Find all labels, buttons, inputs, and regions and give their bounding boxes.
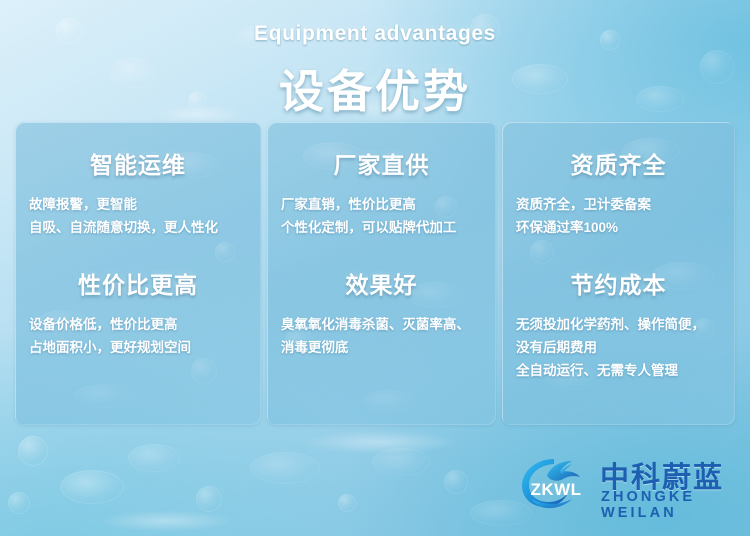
advantage-heading: 性价比更高 bbox=[29, 266, 247, 300]
advantage-line: 无须投加化学药剂、操作简便， bbox=[516, 313, 721, 336]
advantage-panel-qualifications: 资质齐全 资质齐全，卫计委备案 环保通过率100% 节约成本 无须投加化学药剂、… bbox=[502, 122, 735, 425]
page-title: 设备优势 bbox=[0, 55, 750, 120]
advantage-line: 臭氧氧化消毒杀菌、灭菌率高、 bbox=[281, 313, 482, 336]
advantage-line: 没有后期费用 bbox=[516, 336, 721, 359]
advantage-block: 性价比更高 设备价格低，性价比更高 占地面积小，更好规划空间 bbox=[29, 239, 247, 359]
advantage-block: 智能运维 故障报警，更智能 自吸、自流随意切换，更人性化 bbox=[29, 122, 247, 239]
advantage-lines: 臭氧氧化消毒杀菌、灭菌率高、 消毒更彻底 bbox=[281, 313, 482, 359]
poster-canvas: Equipment advantages 设备优势 智能运维 故障报警，更智能 … bbox=[0, 0, 750, 536]
advantage-heading: 智能运维 bbox=[29, 146, 247, 180]
dolphin-wave-logo-icon: ZKWL bbox=[516, 452, 592, 512]
advantage-line: 资质齐全，卫计委备案 bbox=[516, 193, 721, 216]
advantage-block: 厂家直供 厂家直销，性价比更高 个性化定制，可以贴牌代加工 bbox=[281, 122, 482, 239]
advantage-heading: 资质齐全 bbox=[516, 146, 721, 180]
advantage-block: 节约成本 无须投加化学药剂、操作简便， 没有后期费用 全自动运行、无需专人管理 bbox=[516, 239, 721, 382]
company-logo[interactable]: ZKWL 中科蔚蓝 ZHONGKE WEILAN bbox=[516, 452, 742, 514]
advantage-panel-group: 智能运维 故障报警，更智能 自吸、自流随意切换，更人性化 性价比更高 设备价格低… bbox=[15, 122, 735, 425]
advantage-line: 个性化定制，可以贴牌代加工 bbox=[281, 216, 482, 239]
advantage-heading: 厂家直供 bbox=[281, 146, 482, 180]
advantage-line: 环保通过率100% bbox=[516, 216, 721, 239]
advantage-line: 厂家直销，性价比更高 bbox=[281, 193, 482, 216]
advantage-block: 效果好 臭氧氧化消毒杀菌、灭菌率高、 消毒更彻底 bbox=[281, 239, 482, 359]
advantage-panel-factory-direct: 厂家直供 厂家直销，性价比更高 个性化定制，可以贴牌代加工 效果好 臭氧氧化消毒… bbox=[267, 122, 496, 425]
advantage-lines: 故障报警，更智能 自吸、自流随意切换，更人性化 bbox=[29, 193, 247, 239]
advantage-lines: 无须投加化学药剂、操作简便， 没有后期费用 全自动运行、无需专人管理 bbox=[516, 313, 721, 382]
poster-header: Equipment advantages 设备优势 bbox=[0, 0, 750, 120]
advantage-panel-smart-ops: 智能运维 故障报警，更智能 自吸、自流随意切换，更人性化 性价比更高 设备价格低… bbox=[15, 122, 261, 425]
advantage-line: 设备价格低，性价比更高 bbox=[29, 313, 247, 336]
advantage-lines: 厂家直销，性价比更高 个性化定制，可以贴牌代加工 bbox=[281, 193, 482, 239]
advantage-line: 自吸、自流随意切换，更人性化 bbox=[29, 216, 247, 239]
logo-company-name-en: ZHONGKE WEILAN bbox=[601, 489, 742, 521]
svg-text:ZKWL: ZKWL bbox=[530, 480, 581, 499]
advantage-lines: 设备价格低，性价比更高 占地面积小，更好规划空间 bbox=[29, 313, 247, 359]
advantage-heading: 节约成本 bbox=[516, 266, 721, 300]
advantage-line: 全自动运行、无需专人管理 bbox=[516, 359, 721, 382]
advantage-lines: 资质齐全，卫计委备案 环保通过率100% bbox=[516, 193, 721, 239]
advantage-block: 资质齐全 资质齐全，卫计委备案 环保通过率100% bbox=[516, 122, 721, 239]
advantage-heading: 效果好 bbox=[281, 266, 482, 300]
advantage-line: 故障报警，更智能 bbox=[29, 193, 247, 216]
advantage-line: 消毒更彻底 bbox=[281, 336, 482, 359]
advantage-line: 占地面积小，更好规划空间 bbox=[29, 336, 247, 359]
header-eyebrow: Equipment advantages bbox=[0, 22, 750, 46]
